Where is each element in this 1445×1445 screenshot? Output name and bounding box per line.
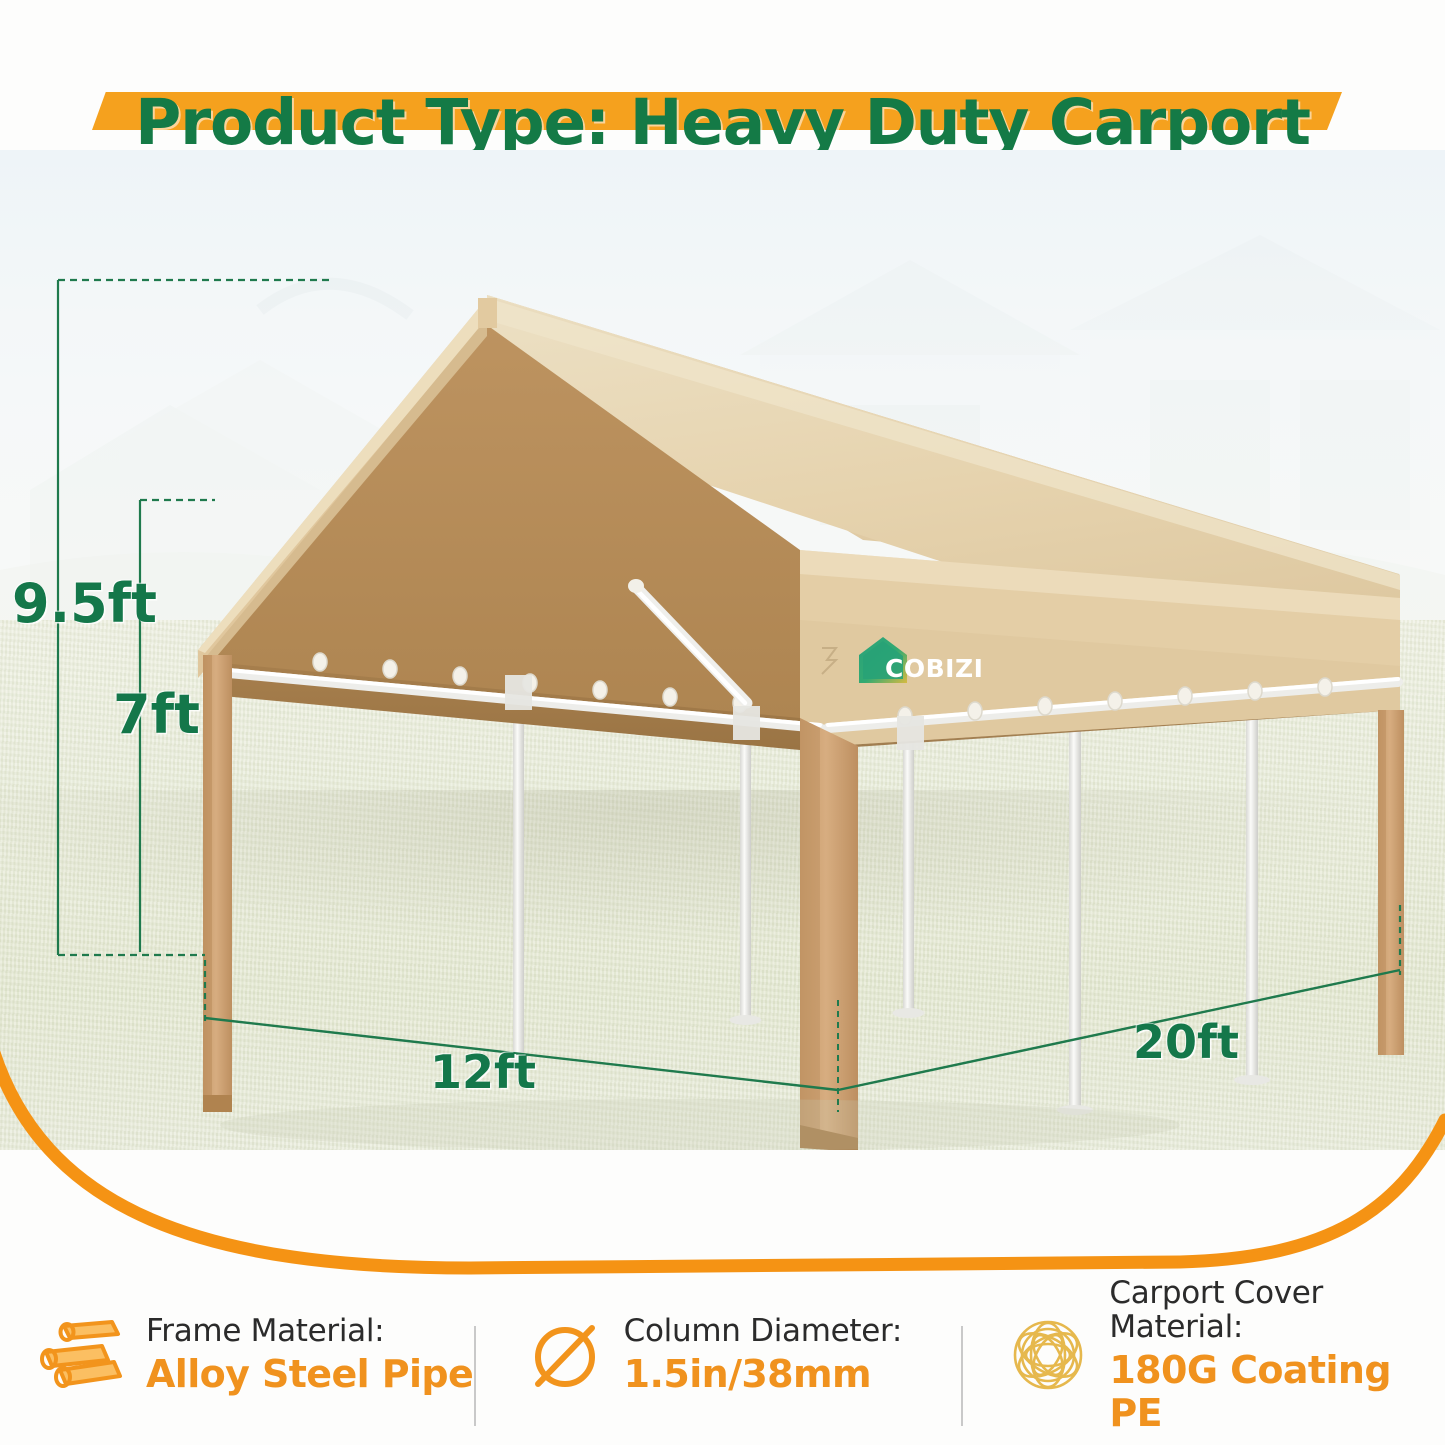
dimension-label-leg-height: 7ft — [113, 683, 200, 746]
feature-text-block: Frame Material: Alloy Steel Pipe — [146, 1314, 473, 1395]
front-left-leg — [203, 655, 232, 1112]
svg-text:COBIZI: COBIZI — [885, 654, 983, 683]
feature-cover-material: Carport Cover Material: 180G Coating PE — [963, 1276, 1445, 1435]
feature-value: Alloy Steel Pipe — [146, 1353, 473, 1396]
diameter-symbol-icon — [522, 1312, 608, 1398]
dimension-label-width: 12ft — [430, 1045, 536, 1099]
steel-pipes-icon — [34, 1312, 130, 1398]
feature-label: Carport Cover Material: — [1109, 1276, 1445, 1345]
feature-text-block: Column Diameter: 1.5in/38mm — [624, 1314, 902, 1395]
feature-label: Column Diameter: — [624, 1314, 902, 1349]
carport-illustration: COBIZI — [0, 150, 1445, 1150]
feature-value: 1.5in/38mm — [624, 1353, 902, 1396]
dimension-label-total-height: 9.5ft — [12, 572, 157, 635]
rear-right-leg — [1378, 710, 1404, 1055]
infographic-canvas: Product Type: Heavy Duty Carport — [0, 0, 1445, 1445]
product-scene: COBIZI — [0, 150, 1445, 1150]
feature-text-block: Carport Cover Material: 180G Coating PE — [1109, 1276, 1445, 1435]
page-title: Product Type: Heavy Duty Carport — [0, 86, 1445, 159]
dimension-label-length: 20ft — [1133, 1015, 1239, 1069]
feature-column-diameter: Column Diameter: 1.5in/38mm — [476, 1312, 964, 1398]
feature-value: 180G Coating PE — [1109, 1349, 1445, 1434]
title-banner: Product Type: Heavy Duty Carport — [0, 40, 1445, 150]
front-right-leg — [800, 718, 858, 1150]
feature-bar: Frame Material: Alloy Steel Pipe Column … — [0, 1285, 1445, 1425]
feature-label: Frame Material: — [146, 1314, 473, 1349]
woven-fabric-knot-icon — [1003, 1310, 1093, 1400]
feature-frame-material: Frame Material: Alloy Steel Pipe — [0, 1312, 476, 1398]
